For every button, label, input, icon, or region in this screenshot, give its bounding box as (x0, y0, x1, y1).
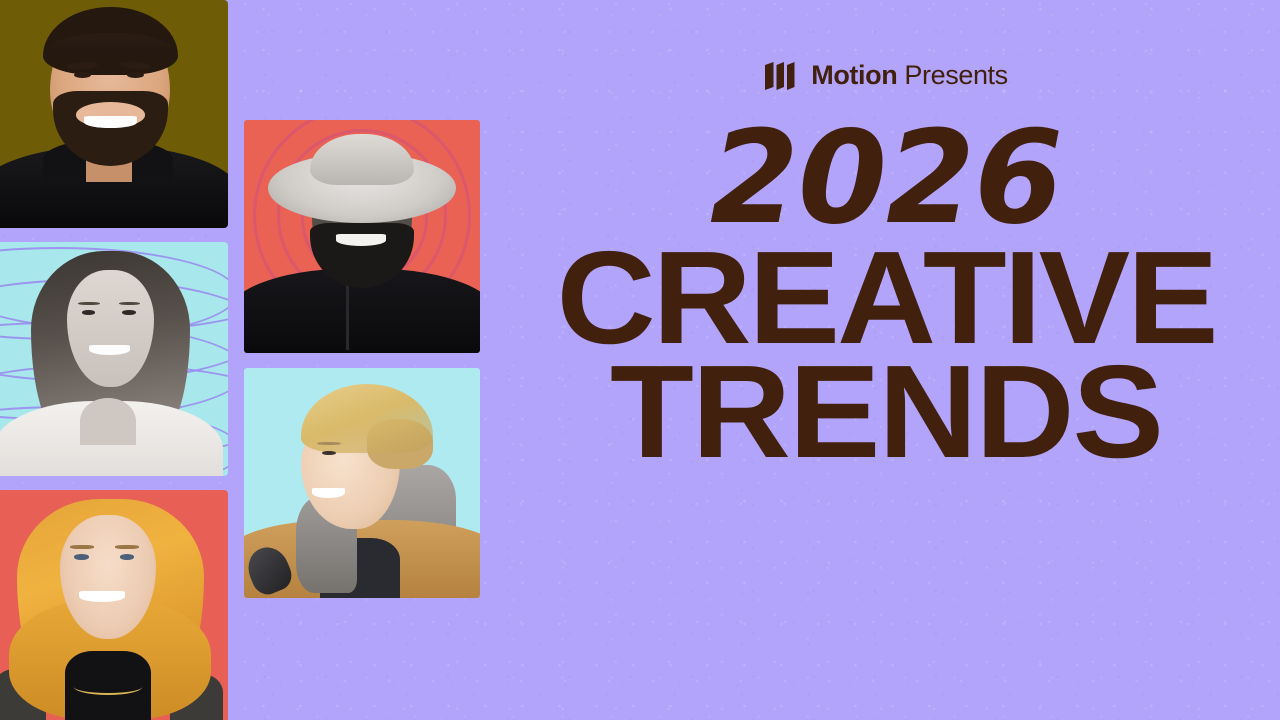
eye-right (122, 310, 135, 315)
speaker-photo-tile-4 (244, 120, 480, 353)
headline-word-creative: CREATIVE (522, 243, 1250, 354)
eyebrow-right (115, 545, 139, 549)
speaker-portrait-blonde-woman (0, 490, 228, 720)
eyebrow-left (78, 302, 100, 306)
speaker-photo-tile-5 (244, 368, 480, 598)
speaker-portrait-bearded-man (0, 0, 228, 228)
speaker-photo-tile-2 (0, 242, 228, 476)
eye-left (74, 72, 91, 78)
brand-name: Motion (811, 60, 897, 90)
eye-right (127, 72, 144, 78)
eye-left (74, 554, 88, 560)
white-shirt-shape (0, 401, 223, 476)
headline-year: 2026 (536, 125, 1236, 233)
gold-chain-necklace (74, 679, 141, 695)
smile-shape (312, 488, 345, 498)
headline-block: Motion Presents 2026 CREATIVE TRENDS (536, 60, 1236, 468)
speaker-portrait-blond-man (244, 368, 480, 598)
headline-word-trends: TRENDS (522, 357, 1250, 468)
title-card-canvas: Motion Presents 2026 CREATIVE TRENDS (0, 0, 1280, 720)
eye-left (82, 310, 95, 315)
eyebrow (317, 442, 341, 445)
speaker-photo-tile-1 (0, 0, 228, 228)
smile-shape (336, 234, 386, 246)
smile-shape (79, 591, 125, 602)
smile-shape (84, 116, 137, 127)
brand-row: Motion Presents (536, 60, 1236, 91)
eye-right (120, 554, 134, 560)
motion-logo-icon (764, 61, 798, 91)
speaker-portrait-man-with-hat (244, 120, 480, 353)
brand-text: Motion Presents (811, 60, 1008, 91)
eyebrow-left (70, 545, 94, 549)
wide-brim-hat-crown (310, 134, 414, 185)
eyebrow-right (119, 302, 141, 306)
brand-suffix: Presents (904, 60, 1007, 90)
hair-shape (43, 7, 177, 75)
speaker-photo-tile-3 (0, 490, 228, 720)
speaker-portrait-woman-dark-hair (0, 242, 228, 476)
